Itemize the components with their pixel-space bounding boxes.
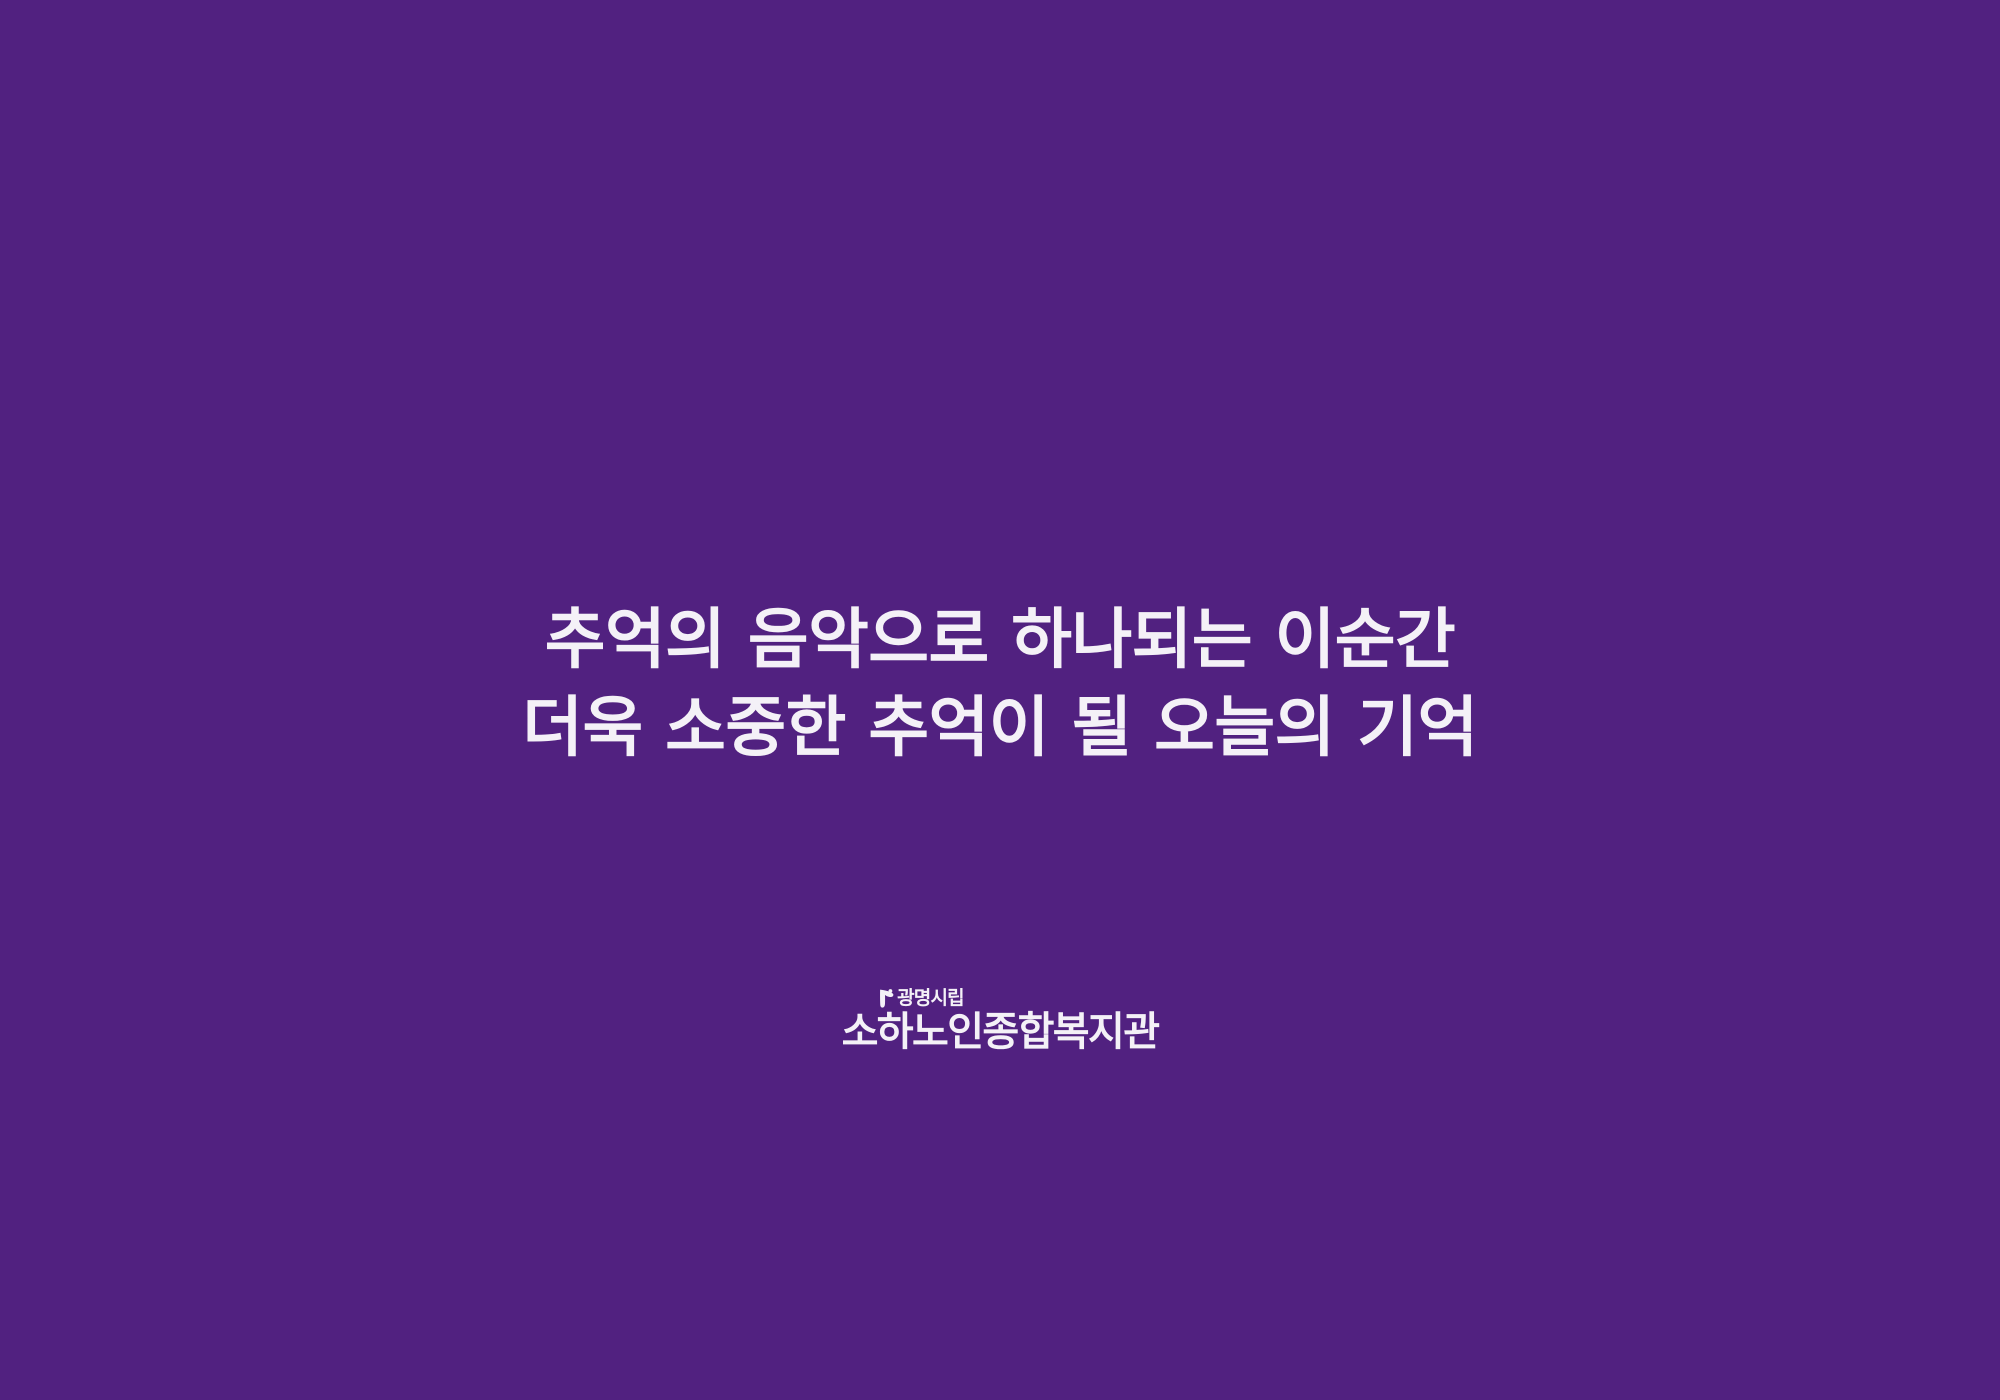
logo-sub-text: 광명시립	[897, 988, 964, 1008]
logo-main-text: 소하노인종합복지관	[842, 1009, 1159, 1055]
headline-line-2: 더욱 소중한 추억이 될 오늘의 기억	[522, 684, 1477, 772]
headline-block: 추억의 음악으로 하나되는 이순간 더욱 소중한 추억이 될 오늘의 기억	[0, 596, 2000, 772]
organization-logo: 광명시립 소하노인종합복지관	[0, 986, 2000, 1055]
slide-canvas: 추억의 음악으로 하나되는 이순간 더욱 소중한 추억이 될 오늘의 기억 광명…	[0, 0, 2000, 1400]
logo-top-row: 광명시립	[879, 986, 964, 1008]
leaf-bird-mark-icon	[879, 989, 894, 1008]
headline-line-1: 추억의 음악으로 하나되는 이순간	[545, 596, 1456, 684]
